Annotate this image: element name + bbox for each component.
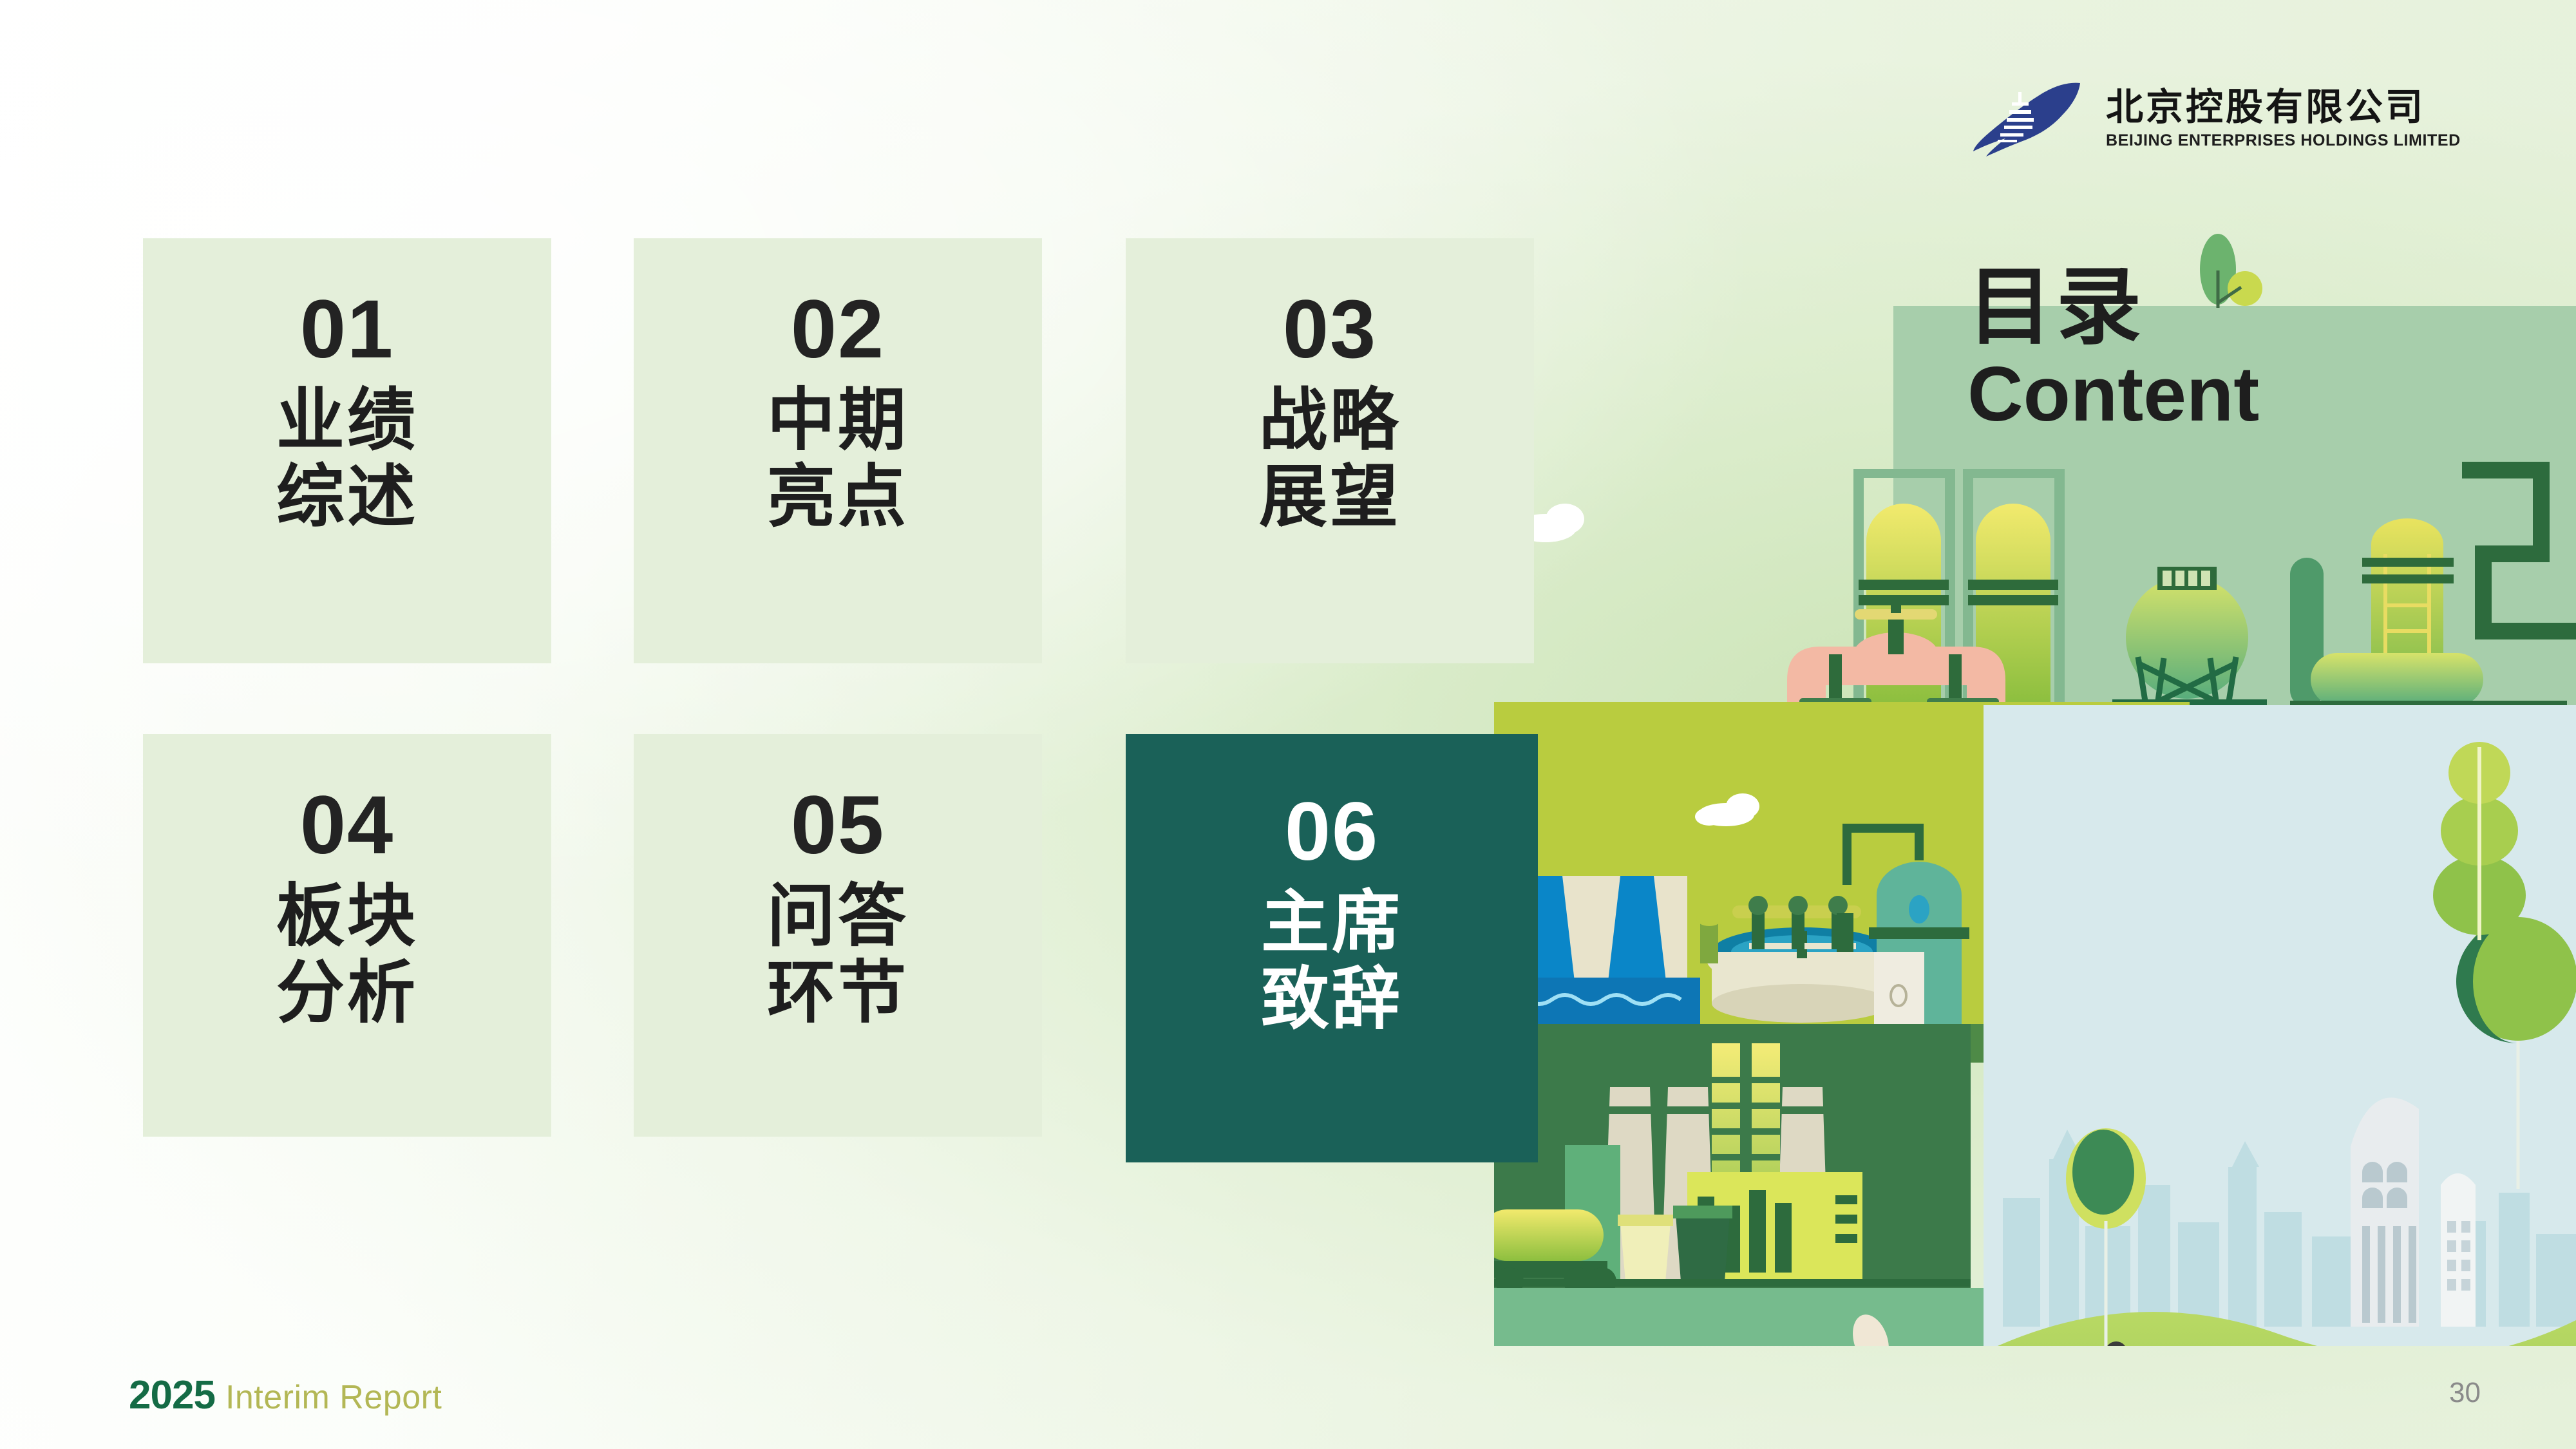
- card-number: 05: [791, 784, 885, 867]
- agenda-card-03[interactable]: 03 战略 展望: [1126, 238, 1534, 663]
- page-number: 30: [2449, 1377, 2481, 1409]
- agenda-card-04[interactable]: 04 板块 分析: [143, 734, 551, 1137]
- card-label-line2: 展望: [1259, 459, 1401, 536]
- card-label-line2: 亮点: [767, 459, 909, 536]
- card-label-line2: 致辞: [1261, 961, 1403, 1038]
- agenda-card-06-active[interactable]: 06 主席 致辞: [1126, 734, 1538, 1162]
- slide-root: 北京控股有限公司 BEIJING ENTERPRISES HOLDINGS LI…: [0, 0, 2576, 1449]
- card-label-line2: 综述: [276, 459, 418, 536]
- card-label-line1: 板块: [276, 878, 418, 955]
- footer-label: Interim Report: [225, 1378, 442, 1417]
- card-label-line1: 战略: [1259, 383, 1401, 459]
- card-label-line2: 环节: [767, 955, 909, 1032]
- agenda-card-02[interactable]: 02 中期 亮点: [634, 238, 1042, 663]
- card-label-line1: 业绩: [276, 383, 418, 459]
- card-label-line2: 分析: [276, 955, 418, 1032]
- footer-year: 2025: [129, 1372, 215, 1418]
- agenda-card-grid: 01 业绩 综述 02 中期 亮点 03 战略 展望 04 板块 分析 05 问…: [0, 0, 2576, 1449]
- card-number: 01: [300, 289, 394, 371]
- footer-report-logo: 2025 Interim Report: [129, 1372, 442, 1418]
- card-label-line1: 主席: [1261, 885, 1403, 961]
- agenda-card-05[interactable]: 05 问答 环节: [634, 734, 1042, 1137]
- card-number: 06: [1285, 791, 1379, 873]
- card-number: 03: [1283, 289, 1377, 371]
- agenda-card-01[interactable]: 01 业绩 综述: [143, 238, 551, 663]
- card-label-line1: 问答: [767, 878, 909, 955]
- card-number: 02: [791, 289, 885, 371]
- card-label-line1: 中期: [767, 383, 909, 459]
- card-number: 04: [300, 784, 394, 867]
